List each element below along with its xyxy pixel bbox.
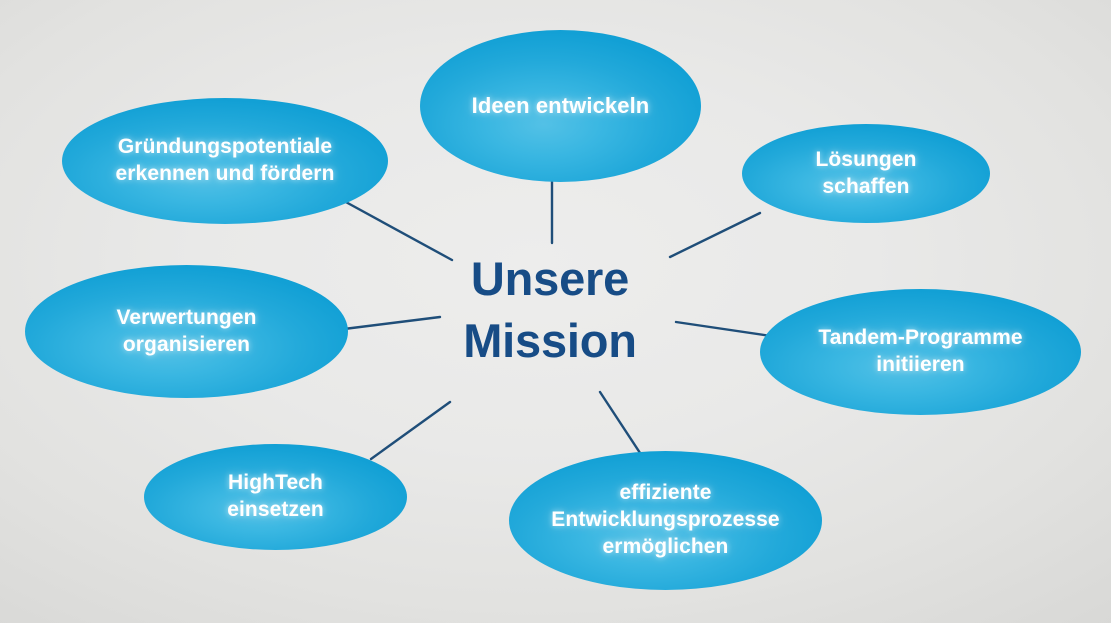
node-label: Ideen entwickeln [464, 92, 658, 120]
node-gruendungspotentiale[interactable]: Gründungspotentiale erkennen und fördern [62, 98, 388, 224]
node-label: effiziente Entwicklungsprozesse ermöglic… [543, 480, 787, 561]
node-label: Tandem-Programme initiieren [810, 325, 1030, 379]
node-entwicklungsprozesse[interactable]: effiziente Entwicklungsprozesse ermöglic… [509, 451, 822, 590]
page-title: Unsere Mission [400, 248, 700, 372]
node-label: HighTech einsetzen [219, 470, 332, 524]
node-label: Verwertungen organisieren [108, 305, 264, 359]
node-ideen-entwickeln[interactable]: Ideen entwickeln [420, 30, 701, 182]
connector-hightech-einsetzen [371, 402, 450, 459]
node-hightech-einsetzen[interactable]: HighTech einsetzen [144, 444, 407, 550]
node-loesungen-schaffen[interactable]: Lösungen schaffen [742, 124, 990, 223]
node-label: Lösungen schaffen [807, 147, 924, 201]
node-tandem-programme[interactable]: Tandem-Programme initiieren [760, 289, 1081, 415]
mission-diagram: Unsere Mission Gründungspotentiale erken… [0, 0, 1111, 623]
node-verwertungen[interactable]: Verwertungen organisieren [25, 265, 348, 398]
node-label: Gründungspotentiale erkennen und fördern [107, 134, 342, 188]
